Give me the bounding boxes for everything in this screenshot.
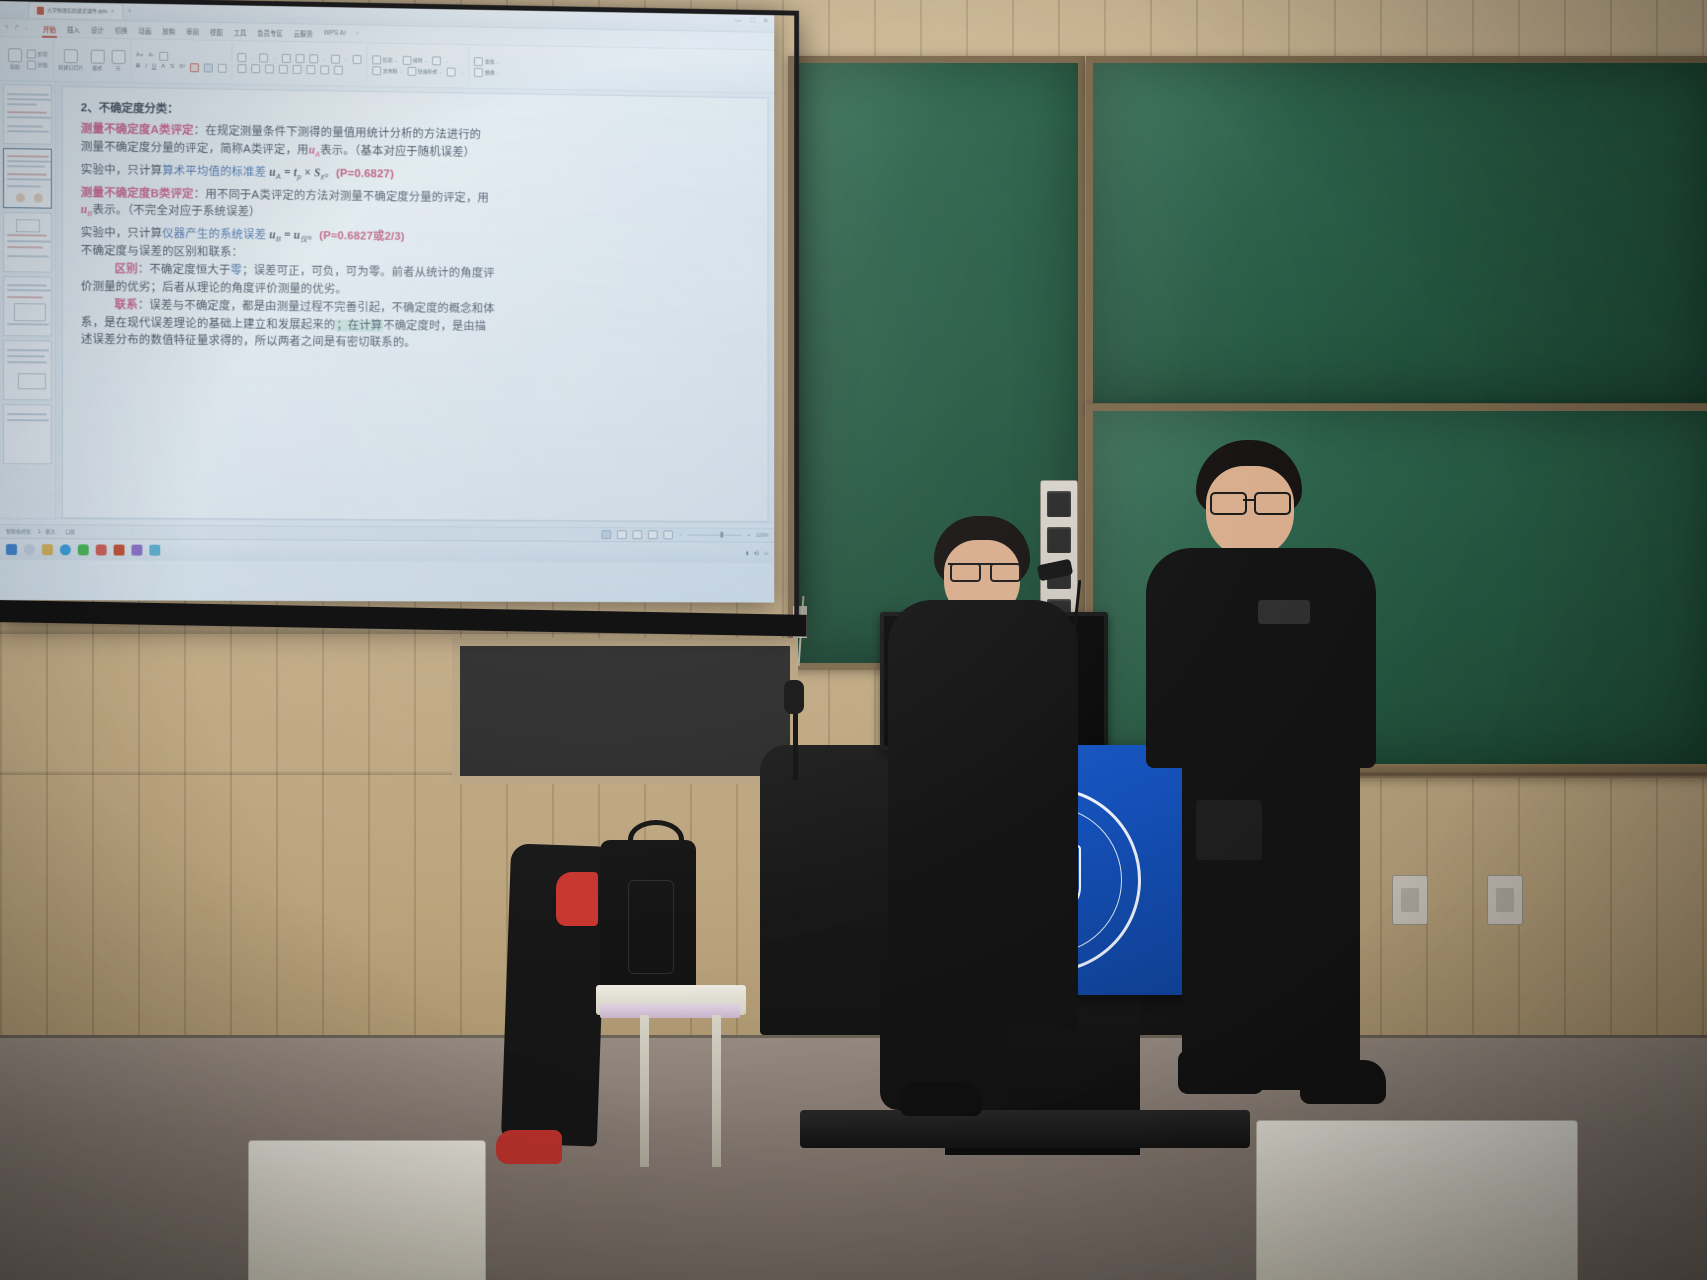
lecture-hall-scene: 大学物理实验绪论课件.pptx ✕ + — □ ✕ ↰ ↱ ⌄ 开始 插入 (0, 0, 1707, 1280)
ambient-shadow (0, 0, 1707, 1280)
